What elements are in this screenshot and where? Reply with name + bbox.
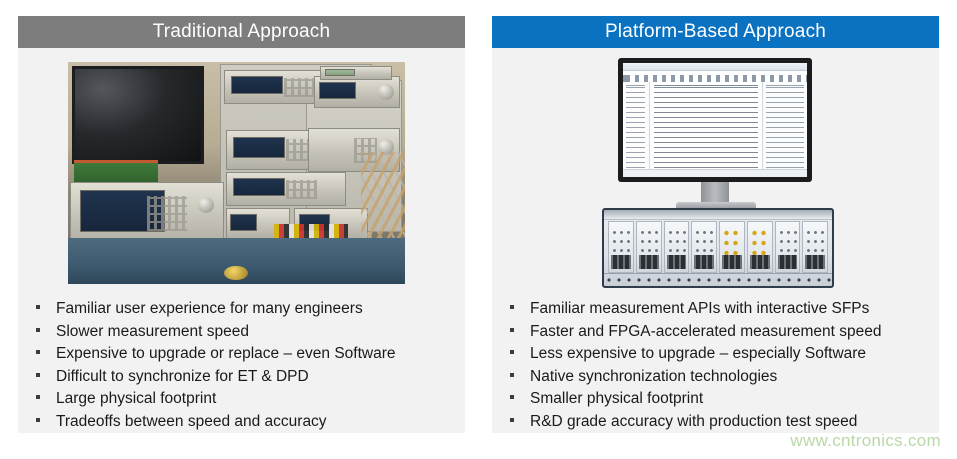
analyzer-knob [198,197,214,213]
module-edge-connector [805,255,825,269]
bench-monitor-dark [72,66,204,164]
list-item: Tradeoffs between speed and accuracy [36,411,455,433]
pxi-module [664,221,690,273]
bullet-text: Slower measurement speed [56,321,249,343]
bullet-square-icon [510,305,514,309]
chassis-top-rail [604,210,832,220]
media-platform-based [492,58,939,293]
module-edge-connector [639,255,659,269]
bullet-text: Smaller physical footprint [530,388,703,410]
bullet-text: Tradeoffs between speed and accuracy [56,411,327,433]
module-edge-connector [667,255,687,269]
instrument-display [230,214,257,231]
bullet-text: Expensive to upgrade or replace – even S… [56,343,396,365]
list-item: Familiar user experience for many engine… [36,298,455,320]
instrument-display [325,69,356,76]
spectrum-analyzer [70,182,224,244]
module-edge-connector [750,255,770,269]
rack-instrument [320,66,392,80]
bullet-square-icon [36,395,40,399]
bullet-square-icon [36,305,40,309]
software-status-bar [623,169,807,177]
software-right-pane [763,82,807,169]
pxi-module [802,221,828,273]
bullet-square-icon [510,328,514,332]
bullet-text: Faster and FPGA-accelerated measurement … [530,321,882,343]
pxi-module [608,221,634,273]
instrument-display [319,82,356,99]
pxi-module [691,221,717,273]
panel-body-traditional: Familiar user experience for many engine… [18,48,465,433]
software-work-area [623,82,807,169]
platform-monitor-pxi-chassis-photo [602,58,834,288]
comparison-slide: Traditional Approach [0,0,957,459]
list-item: Smaller physical footprint [510,388,929,410]
bullet-square-icon [510,373,514,377]
chassis-bottom-rail [604,273,832,286]
monitor-screen [623,63,807,177]
bullet-text: Familiar measurement APIs with interacti… [530,298,869,320]
pxi-module-rf [747,221,773,273]
pxi-module-rf [719,221,745,273]
bullet-list-platform-based: Familiar measurement APIs with interacti… [510,298,929,433]
list-item: Familiar measurement APIs with interacti… [510,298,929,320]
rack-instrument [314,76,400,108]
module-edge-connector [722,255,742,269]
bullet-text: Large physical footprint [56,388,216,410]
software-tree-pane [623,82,650,169]
bullet-text: Less expensive to upgrade – especially S… [530,343,866,365]
pxi-module [636,221,662,273]
rack-instrument [226,172,346,206]
pxi-module [775,221,801,273]
panel-traditional-approach: Traditional Approach [18,16,465,433]
panel-header-platform-based: Platform-Based Approach [492,16,939,48]
bullet-text: Difficult to synchronize for ET & DPD [56,366,309,388]
list-item: Difficult to synchronize for ET & DPD [36,366,455,388]
list-item: Slower measurement speed [36,321,455,343]
list-item: R&D grade accuracy with production test … [510,411,929,433]
bullet-square-icon [36,373,40,377]
pxi-chassis [602,208,834,288]
module-edge-connector [778,255,798,269]
instrument-keypad [286,180,317,199]
list-item: Less expensive to upgrade – especially S… [510,343,929,365]
chassis-module-slots [608,221,828,273]
bullet-square-icon [510,418,514,422]
bullet-square-icon [510,395,514,399]
monitor-stand-neck [701,182,729,204]
traditional-rack-instruments-photo [68,62,405,284]
list-item: Large physical footprint [36,388,455,410]
instrument-knob [378,84,394,100]
bullet-text: Familiar user experience for many engine… [56,298,363,320]
list-item: Native synchronization technologies [510,366,929,388]
bullet-text: R&D grade accuracy with production test … [530,411,857,433]
media-traditional [18,58,465,293]
module-edge-connector [611,255,631,269]
analyzer-keypad [147,196,187,231]
software-center-pane [650,82,763,169]
software-title-bar [623,63,807,71]
instrument-keypad [284,78,315,97]
panel-header-traditional: Traditional Approach [18,16,465,48]
bullet-square-icon [36,328,40,332]
panel-body-platform-based: Familiar measurement APIs with interacti… [492,48,939,433]
bullet-square-icon [36,418,40,422]
gold-component [224,266,248,280]
panel-platform-based-approach: Platform-Based Approach [492,16,939,433]
bullet-list-traditional: Familiar user experience for many engine… [36,298,455,433]
flat-panel-monitor [618,58,812,182]
instrument-display [233,137,285,158]
list-item: Expensive to upgrade or replace – even S… [36,343,455,365]
bullet-square-icon [36,350,40,354]
instrument-display [233,178,285,196]
module-edge-connector [694,255,714,269]
list-item: Faster and FPGA-accelerated measurement … [510,321,929,343]
site-watermark: www.cntronics.com [790,431,941,451]
bullet-text: Native synchronization technologies [530,366,777,388]
instrument-display [231,76,283,94]
bullet-square-icon [510,350,514,354]
